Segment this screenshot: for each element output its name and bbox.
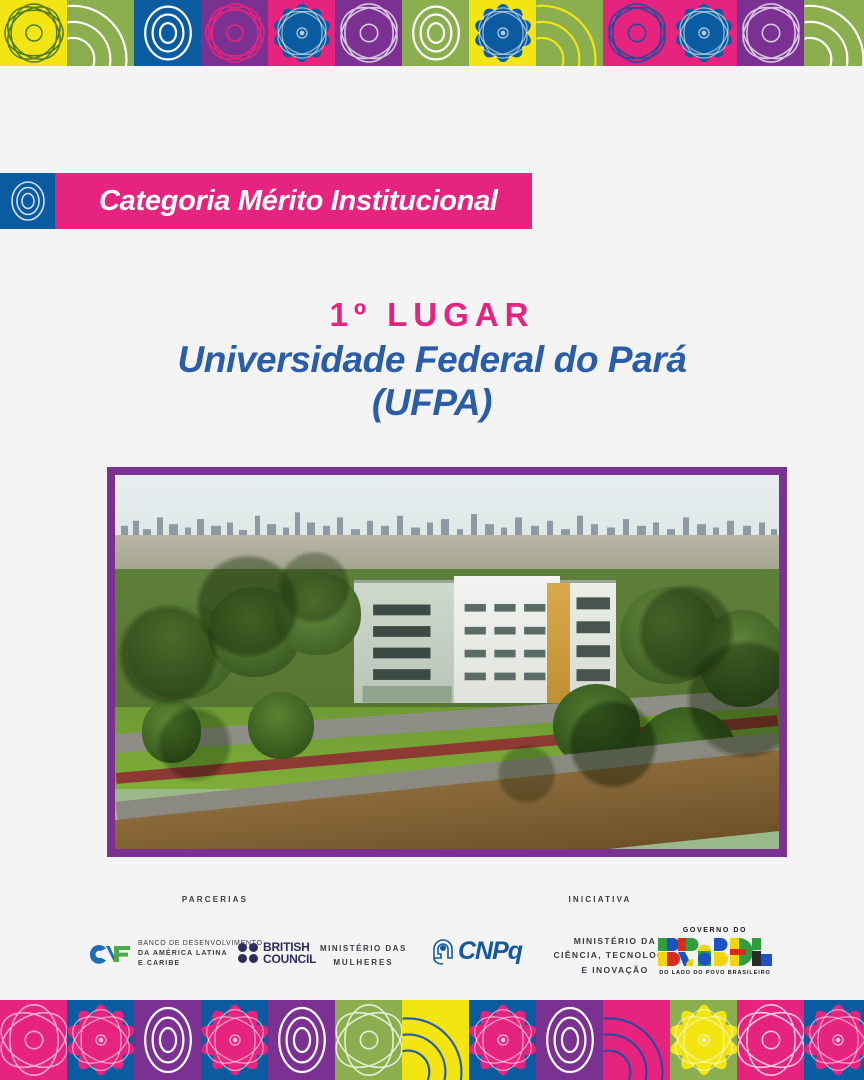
concentric-circles-icon [0, 173, 55, 229]
pattern-tile-rings [134, 1000, 201, 1080]
place-label: 1º LUGAR [0, 298, 864, 333]
pattern-tile-star-outline [335, 0, 402, 66]
pattern-tile-flower-solid [469, 1000, 536, 1080]
pattern-tile-flower-outline [201, 0, 268, 66]
caf-logo: BANCO DE DESENVOLVIMENTO DA AMÉRICA LATI… [88, 939, 263, 969]
caf-mark-icon [88, 943, 132, 965]
category-banner-text: Categoria Mérito Institucional [99, 187, 498, 216]
pattern-tile-arcs [536, 0, 603, 66]
pattern-tile-arcs [402, 1000, 469, 1080]
title-block: 1º LUGAR Universidade Federal do Pará (U… [0, 298, 864, 424]
pattern-tile-star-outline [335, 1000, 402, 1080]
pattern-tile-rings [268, 1000, 335, 1080]
pattern-tile-star-outline [0, 1000, 67, 1080]
initiative-label: INICIATIVA [430, 895, 770, 904]
mulheres-line-2: MULHERES [320, 957, 407, 969]
category-banner-bar: Categoria Mérito Institucional [55, 173, 532, 229]
pattern-tile-flower-solid [469, 0, 536, 66]
photo-frame [107, 467, 787, 857]
pattern-tile-rings [536, 1000, 603, 1080]
pattern-tile-flower-outline [0, 0, 67, 66]
british-council-logo: BRITISH COUNCIL [238, 941, 316, 965]
partners-label: PARCERIAS [0, 895, 430, 904]
cnpq-wordmark: CNPq [458, 937, 522, 966]
institution-name-line1: Universidade Federal do Pará [0, 339, 864, 382]
partners-group: PARCERIAS BANCO DE DESENVOLVIMENTO DA AM… [0, 895, 430, 904]
cnpq-mark-icon [430, 938, 456, 966]
initiative-group: INICIATIVA CNPq MINISTÉRIO DA CIÊNCIA, T… [430, 895, 864, 904]
cnpq-logo: CNPq [430, 937, 522, 966]
top-pattern-strip [0, 0, 864, 66]
governo-tagline: DO LADO DO POVO BRASILEIRO [655, 970, 775, 976]
pattern-tile-rings [134, 0, 201, 66]
institution-name-line2: (UFPA) [0, 382, 864, 425]
bottom-pattern-strip [0, 1000, 864, 1080]
poster: Categoria Mérito Institucional 1º LUGAR … [0, 0, 864, 1080]
category-banner: Categoria Mérito Institucional [0, 173, 532, 229]
pattern-tile-arcs [67, 0, 134, 66]
pattern-tile-rings [402, 0, 469, 66]
british-council-dots-icon [238, 943, 258, 963]
brasil-wordmark-icon [656, 936, 774, 968]
pattern-tile-star-outline [603, 0, 670, 66]
pattern-tile-star-outline [737, 0, 804, 66]
governo-label: GOVERNO DO [655, 927, 775, 934]
governo-do-brasil-logo: GOVERNO DO [655, 927, 775, 976]
campus-photo [115, 475, 779, 849]
pattern-tile-star-outline [737, 1000, 804, 1080]
pattern-tile-flower-solid [201, 1000, 268, 1080]
pattern-tile-flower-solid [804, 1000, 864, 1080]
footer-logos: PARCERIAS BANCO DE DESENVOLVIMENTO DA AM… [0, 895, 864, 995]
mulheres-line-1: MINISTÉRIO DAS [320, 943, 407, 955]
pattern-tile-arcs [603, 1000, 670, 1080]
pattern-tile-flower-solid [670, 0, 737, 66]
pattern-tile-flower-solid [268, 0, 335, 66]
ministerio-das-mulheres-logo: MINISTÉRIO DAS MULHERES [320, 943, 407, 968]
pattern-tile-flower-solid [67, 1000, 134, 1080]
pattern-tile-flower-solid [670, 1000, 737, 1080]
pattern-tile-arcs [804, 0, 864, 66]
british-council-line-2: COUNCIL [263, 953, 316, 965]
